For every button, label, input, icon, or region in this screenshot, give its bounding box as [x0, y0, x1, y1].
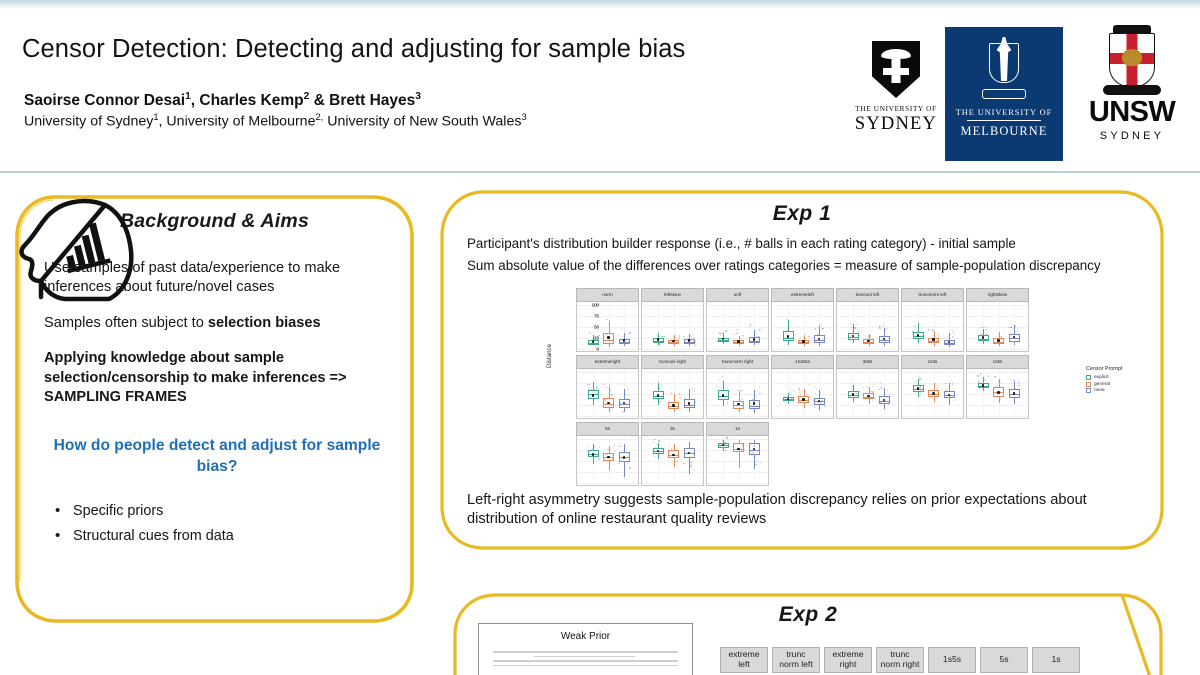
- boxplot-point: [1015, 325, 1016, 326]
- boxplot-point: [793, 338, 794, 339]
- poster-header: Censor Detection: Detecting and adjustin…: [0, 9, 1200, 172]
- boxplot-point: [793, 391, 794, 392]
- boxplot-point: [720, 446, 721, 447]
- chart-legend: Censor Prompt explicitgeneralnone: [1086, 366, 1156, 395]
- boxplot-median: [619, 404, 630, 405]
- boxplot-point: [993, 401, 994, 402]
- boxplot-point: [621, 328, 622, 329]
- exp2-condition-label: 1s5s: [943, 655, 961, 665]
- exp2-condition-label: 5s: [999, 655, 1008, 665]
- boxplot-point: [1010, 327, 1011, 328]
- facet-strip-line-0: 1s3s5s: [795, 360, 810, 365]
- gridline: [902, 383, 963, 384]
- boxplot-point: [850, 323, 851, 324]
- boxplot-point: [881, 387, 882, 388]
- weak-prior-title: Weak Prior: [479, 631, 692, 642]
- exp2-condition-strips: extremelefttruncnorm leftextremerighttru…: [720, 647, 1080, 673]
- boxplot-point: [621, 445, 622, 446]
- boxplot-point: [668, 465, 669, 466]
- boxplot-median: [848, 337, 859, 338]
- boxplot-point: [798, 401, 799, 402]
- facet-cell: truncuni left: [836, 288, 899, 352]
- university-of-melbourne-logo: THE UNIVERSITY OF MELBOURNE: [945, 27, 1063, 161]
- boxplot-point: [659, 344, 660, 345]
- exp2-panel: Exp 2 Weak Prior extremelefttruncnorm le…: [450, 589, 1166, 675]
- boxplot-point: [938, 344, 939, 345]
- boxplot-point: [890, 394, 891, 395]
- facet-row-1: 0255075100extremerighttruncuni righttrun…: [576, 355, 1029, 419]
- boxplot-point: [599, 447, 600, 448]
- boxplot-point: [679, 393, 680, 394]
- boxplot-point: [606, 319, 607, 320]
- melbourne-logo-line1: THE UNIVERSITY OF: [956, 108, 1052, 117]
- boxplot-point: [658, 451, 659, 452]
- facet-strip-line-0: 1s: [735, 427, 740, 432]
- facet-strip-label: 1s5s: [966, 355, 1029, 369]
- boxplot-point: [938, 333, 939, 334]
- boxplot-mean: [802, 398, 805, 401]
- boxplot-point: [929, 398, 930, 399]
- exp2-condition-label: truncnorm left: [779, 650, 812, 669]
- boxplot-point: [623, 456, 624, 457]
- facet-strip-label: truncuni right: [641, 355, 704, 369]
- boxplot-point: [1003, 331, 1004, 332]
- gridline: [707, 472, 768, 473]
- exp2-condition-4: 1s5s: [928, 647, 976, 673]
- exp1-title: Exp 1: [438, 202, 1166, 226]
- boxplot-point: [978, 382, 979, 383]
- boxplot-point: [752, 410, 753, 411]
- boxplot-point: [759, 387, 760, 388]
- facet-strip-line-1: uni left: [866, 293, 880, 298]
- boxplot-point: [676, 335, 677, 336]
- boxplot-mean: [722, 394, 725, 397]
- boxplot-point: [952, 383, 953, 384]
- gridline: [967, 305, 1028, 306]
- facet-strip-label: 3s5s: [836, 355, 899, 369]
- boxplot-point: [919, 378, 920, 379]
- gridline: [707, 394, 768, 395]
- facet-cell: 1s3s5s: [771, 355, 834, 419]
- boxplot-point: [1019, 342, 1020, 343]
- boxplot-point: [722, 339, 723, 340]
- y-tick-50: 50: [594, 325, 599, 330]
- boxplot-point: [998, 338, 999, 339]
- boxplot-point: [655, 456, 656, 457]
- boxplot-point: [683, 463, 684, 464]
- legend-label-general: general: [1094, 382, 1110, 387]
- boxplot-point: [691, 437, 692, 438]
- boxplot-point: [656, 338, 657, 339]
- boxplot-point: [980, 373, 981, 374]
- boxplot-point: [913, 379, 914, 380]
- boxplot-point: [678, 462, 679, 463]
- boxplot-point: [1010, 324, 1011, 325]
- boxplot-point: [661, 336, 662, 337]
- boxplot-point: [727, 402, 728, 403]
- facet-strip-line-0: 3s: [670, 427, 675, 432]
- boxplot-mean: [592, 394, 595, 397]
- boxplot-point: [815, 393, 816, 394]
- boxplot-point: [738, 405, 739, 406]
- boxplot-point: [679, 398, 680, 399]
- boxplot-point: [791, 395, 792, 396]
- boxplot-point: [932, 329, 933, 330]
- boxplot-point: [749, 326, 750, 327]
- boxplot-median: [603, 404, 614, 405]
- boxplot-point: [816, 389, 817, 390]
- y-tick-100: 100: [592, 303, 599, 308]
- boxplot-point: [588, 389, 589, 390]
- boxplot-point: [870, 391, 871, 392]
- boxplot-point: [820, 324, 821, 325]
- facet-panel: [576, 436, 639, 486]
- boxplot-point: [609, 395, 610, 396]
- gridline: [642, 372, 703, 373]
- unsw-crest-icon: [1103, 25, 1161, 97]
- gridline: [772, 416, 833, 417]
- boxplot-point: [919, 376, 920, 377]
- exp2-condition-3: truncnorm right: [876, 647, 924, 673]
- boxplot-point: [915, 381, 916, 382]
- boxplot-point: [1000, 399, 1001, 400]
- gridline: [902, 305, 963, 306]
- boxplot-point: [693, 335, 694, 336]
- boxplot-point: [679, 336, 680, 337]
- boxplot-point: [671, 394, 672, 395]
- boxplot-point: [736, 333, 737, 334]
- facet-strip-line-0: unif: [734, 293, 741, 298]
- facet-strip-line-0: right: [988, 293, 997, 298]
- boxplot-point: [736, 394, 737, 395]
- boxplot-median: [879, 340, 890, 341]
- gridline: [642, 394, 703, 395]
- exp2-condition-line-1: norm left: [779, 660, 812, 670]
- boxplot-point: [607, 333, 608, 334]
- affiliation-sup-2: 3: [521, 112, 526, 122]
- boxplot-point: [594, 446, 595, 447]
- boxplot-point: [817, 334, 818, 335]
- boxplot-point: [1001, 383, 1002, 384]
- poster-root: Censor Detection: Detecting and adjustin…: [0, 0, 1200, 675]
- author-part-1: , Charles Kemp: [191, 92, 304, 109]
- boxplot-point: [694, 341, 695, 342]
- author-part-0: Saoirse Connor Desai: [24, 92, 185, 109]
- exp2-condition-line-1: right: [832, 660, 863, 670]
- boxplot-point: [874, 397, 875, 398]
- facet-strip-label: unif: [706, 288, 769, 302]
- boxplot-point: [673, 336, 674, 337]
- boxplot-point: [931, 396, 932, 397]
- boxplot-point: [954, 332, 955, 333]
- gridline: [772, 327, 833, 328]
- boxplot-point: [1002, 392, 1003, 393]
- boxplot-point: [750, 331, 751, 332]
- melbourne-logo-line2: MELBOURNE: [961, 124, 1048, 139]
- boxplot-point: [878, 389, 879, 390]
- boxplot-point: [787, 330, 788, 331]
- facet-strip-label: 1s3s: [901, 355, 964, 369]
- boxplot-point: [688, 401, 689, 402]
- facet-strip-line-0: trunc: [722, 360, 732, 365]
- boxplot-point: [609, 320, 610, 321]
- boxplot-point: [790, 390, 791, 391]
- boxplot-point: [952, 336, 953, 337]
- boxplot-point: [935, 395, 936, 396]
- boxplot-point: [856, 337, 857, 338]
- facet-cell: 3s5s: [836, 355, 899, 419]
- boxplot-point: [981, 333, 982, 334]
- boxplot-point: [883, 324, 884, 325]
- boxplot-point: [678, 400, 679, 401]
- gridline: [577, 372, 638, 373]
- boxplot-point: [741, 399, 742, 400]
- boxplot-point: [739, 455, 740, 456]
- gridline: [642, 327, 703, 328]
- facet-strip-line-0: trunc: [856, 293, 866, 298]
- boxplot-point: [757, 461, 758, 462]
- boxplot-point: [863, 387, 864, 388]
- boxplot-median: [1009, 338, 1020, 339]
- facet-strip-line-1: right: [611, 360, 620, 365]
- boxplot-point: [694, 470, 695, 471]
- boxplot-point: [988, 376, 989, 377]
- boxplot-point: [589, 384, 590, 385]
- exp2-condition-label: extremeright: [832, 650, 863, 669]
- facet-strip-line-0: norm: [602, 293, 612, 298]
- facet-panel: [901, 302, 964, 352]
- boxplot-point: [871, 341, 872, 342]
- boxplot-point: [799, 392, 800, 393]
- facet-panel: [966, 302, 1029, 352]
- boxplot-point: [619, 446, 620, 447]
- boxplot-point: [858, 331, 859, 332]
- gridline: [642, 416, 703, 417]
- boxplot-point: [620, 403, 621, 404]
- boxplot-point: [668, 395, 669, 396]
- boxplot-point: [654, 439, 655, 440]
- boxplot-point: [657, 332, 658, 333]
- gridline: [707, 327, 768, 328]
- facet-cell: extremeright: [576, 355, 639, 419]
- facet-panel: [706, 302, 769, 352]
- boxplot-point: [799, 337, 800, 338]
- boxplot-point: [720, 335, 721, 336]
- facet-strip-label: 3s: [641, 422, 704, 436]
- affiliation-list: University of Sydney1, University of Mel…: [24, 112, 804, 130]
- boxplot-point: [996, 331, 997, 332]
- facet-strip-label: truncuni left: [836, 288, 899, 302]
- boxplot-point: [618, 334, 619, 335]
- boxplot-point: [695, 401, 696, 402]
- facet-strip-line-1: skew: [997, 293, 1007, 298]
- boxplot-point: [789, 392, 790, 393]
- page-title: Censor Detection: Detecting and adjustin…: [22, 35, 822, 64]
- legend-item-none: none: [1086, 388, 1156, 393]
- gridline: [772, 349, 833, 350]
- affiliation-part-1: , University of Melbourne: [159, 114, 316, 130]
- boxplot-point: [985, 379, 986, 380]
- boxplot-point: [675, 448, 676, 449]
- boxplot-mean: [917, 334, 920, 337]
- boxplot-point: [996, 385, 997, 386]
- facet-panel: [836, 369, 899, 419]
- gridline: [772, 383, 833, 384]
- facet-strip-line-0: 3s5s: [863, 360, 873, 365]
- gridline: [837, 372, 898, 373]
- boxplot-point: [720, 443, 721, 444]
- boxplot-point: [724, 442, 725, 443]
- boxplot-point: [865, 335, 866, 336]
- boxplot-mean: [688, 402, 691, 405]
- facet-strip-line-0: extreme: [595, 360, 612, 365]
- boxplot-point: [726, 437, 727, 438]
- boxplot-point: [724, 341, 725, 342]
- gridline: [902, 316, 963, 317]
- boxplot-point: [620, 384, 621, 385]
- boxplot-point: [759, 452, 760, 453]
- boxplot-point: [945, 383, 946, 384]
- gridline: [967, 349, 1028, 350]
- facet-cell: unif: [706, 288, 769, 352]
- boxplot-point: [628, 389, 629, 390]
- boxplot-point: [787, 396, 788, 397]
- gridline: [642, 483, 703, 484]
- boxplot-point: [658, 440, 659, 441]
- facet-strip-line-1: skew: [670, 293, 680, 298]
- gridline: [642, 439, 703, 440]
- boxplot-point: [755, 389, 756, 390]
- facet-strip-label: leftskew: [641, 288, 704, 302]
- boxplot-point: [949, 396, 950, 397]
- boxplot-point: [690, 465, 691, 466]
- exp2-condition-line-1: left: [728, 660, 759, 670]
- gridline: [707, 372, 768, 373]
- boxplot-point: [977, 375, 978, 376]
- background-paragraph-2: Samples often subject to selection biase…: [44, 314, 389, 333]
- unsw-logo: UNSW SYDNEY: [1073, 25, 1191, 175]
- boxplot-point: [1009, 391, 1010, 392]
- boxplot-point: [857, 398, 858, 399]
- facet-panel: [706, 436, 769, 486]
- boxplot-mean: [852, 393, 855, 396]
- facet-panel: [771, 302, 834, 352]
- boxplot-mean: [997, 339, 1000, 342]
- exp2-condition-label: extremeleft: [728, 650, 759, 669]
- boxplot-point: [808, 336, 809, 337]
- boxplot-point: [621, 469, 622, 470]
- exp1-description-line1: Participant's distribution builder respo…: [467, 236, 1016, 251]
- background-p2-bold: selection biases: [208, 315, 321, 331]
- boxplot-point: [809, 340, 810, 341]
- gridline: [967, 416, 1028, 417]
- unsw-logo-line2: SYDNEY: [1100, 130, 1164, 142]
- boxplot-point: [728, 446, 729, 447]
- boxplot-mean: [1013, 392, 1016, 395]
- boxplot-point: [659, 401, 660, 402]
- boxplot-point: [614, 397, 615, 398]
- boxplot-point: [938, 387, 939, 388]
- y-axis-2: 0255075100: [576, 302, 601, 352]
- boxplot-point: [609, 340, 610, 341]
- boxplot-point: [725, 330, 726, 331]
- facet-strip-line-1: uni right: [669, 360, 685, 365]
- boxplot-point: [867, 386, 868, 387]
- gridline: [642, 316, 703, 317]
- facet-cell: truncnorm right: [706, 355, 769, 419]
- boxplot-point: [757, 339, 758, 340]
- boxplot-point: [604, 399, 605, 400]
- boxplot-point: [614, 444, 615, 445]
- gridline: [837, 416, 898, 417]
- gridline: [577, 416, 638, 417]
- boxplot-mean: [672, 404, 675, 407]
- facet-strip-line-0: 1s5s: [993, 360, 1003, 365]
- boxplot-point: [724, 392, 725, 393]
- boxplot-point: [692, 468, 693, 469]
- gridline: [642, 461, 703, 462]
- gridline: [577, 383, 638, 384]
- boxplot-point: [719, 379, 720, 380]
- boxplot-point: [819, 392, 820, 393]
- boxplot-point: [684, 398, 685, 399]
- boxplot-point: [800, 343, 801, 344]
- gridline: [837, 383, 898, 384]
- exp2-condition-line-0: 1s: [1051, 655, 1060, 665]
- gridline: [707, 439, 768, 440]
- y-tick-25: 25: [594, 336, 599, 341]
- legend-swatch-general: [1086, 382, 1091, 387]
- institution-logos: THE UNIVERSITY OF SYDNEY THE UNIVERSITY …: [845, 25, 1190, 175]
- facet-strip-line-0: extreme: [791, 293, 808, 298]
- boxplot-point: [629, 458, 630, 459]
- gridline: [707, 316, 768, 317]
- facet-strip-label: 5s: [576, 422, 639, 436]
- facet-strip-line-0: trunc: [659, 360, 669, 365]
- boxplot-point: [606, 335, 607, 336]
- boxplot-point: [886, 328, 887, 329]
- boxplot-point: [849, 395, 850, 396]
- boxplot-mean: [672, 454, 675, 457]
- boxplot-point: [625, 385, 626, 386]
- boxplot-median: [653, 341, 664, 342]
- legend-swatch-explicit: [1086, 375, 1091, 380]
- exp1-conclusion: Left-right asymmetry suggests sample-pop…: [467, 491, 1157, 530]
- facet-panel: [966, 369, 1029, 419]
- gridline: [577, 472, 638, 473]
- boxplot-point: [629, 332, 630, 333]
- facet-cell: 1s3s: [901, 355, 964, 419]
- weak-prior-stimulus: Weak Prior: [478, 623, 693, 675]
- boxplot-point: [671, 392, 672, 393]
- boxplot-point: [920, 395, 921, 396]
- boxplot-point: [621, 340, 622, 341]
- boxplot-point: [694, 389, 695, 390]
- boxplot-point: [595, 380, 596, 381]
- facet-panel: [836, 302, 899, 352]
- exp1-description-line2: Sum absolute value of the differences ov…: [467, 258, 1101, 273]
- boxplot-point: [737, 329, 738, 330]
- boxplot-point: [613, 464, 614, 465]
- boxplot-point: [598, 451, 599, 452]
- boxplot-point: [719, 333, 720, 334]
- facet-panel: [641, 436, 704, 486]
- gridline: [837, 327, 898, 328]
- boxplot-point: [813, 400, 814, 401]
- legend-items: explicitgeneralnone: [1086, 375, 1156, 393]
- boxplot-point: [694, 391, 695, 392]
- boxplot-point: [694, 338, 695, 339]
